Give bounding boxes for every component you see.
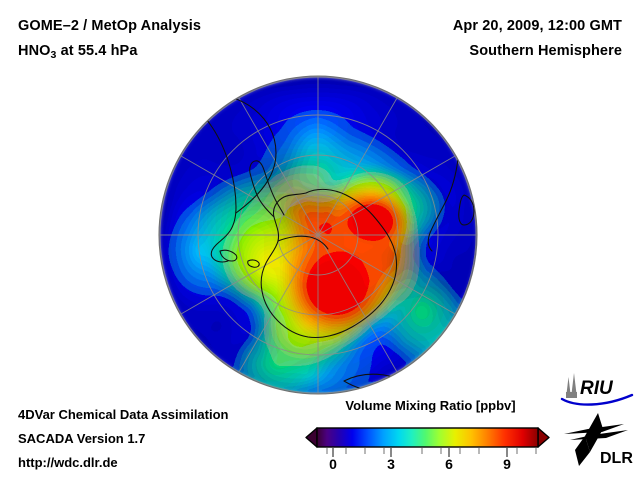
website-url[interactable]: http://wdc.dlr.de	[18, 451, 229, 475]
colorbar-min-arrow	[306, 428, 317, 447]
region-label: Southern Hemisphere	[322, 39, 622, 64]
colorbar-major-ticks	[333, 448, 507, 457]
colorbar-tick-label-0: 0	[329, 456, 337, 470]
colorbar-tick-label-3: 9	[503, 456, 511, 470]
colorbar-title: Volume Mixing Ratio [ppbv]	[311, 398, 550, 413]
riu-logo: RIU	[560, 372, 636, 406]
method-label: 4DVar Chemical Data Assimilation	[18, 403, 229, 427]
coastline-tasmania	[396, 392, 404, 395]
species-level-label: HNO3 at 55.4 hPa	[18, 39, 318, 65]
version-label: SACADA Version 1.7	[18, 427, 229, 451]
colorbar-gradient	[317, 428, 538, 447]
polar-map-globe	[158, 75, 478, 395]
colorbar-svg: 0 3 6 9	[305, 418, 550, 470]
globe-svg	[158, 75, 478, 395]
datetime-label: Apr 20, 2009, 12:00 GMT	[322, 14, 622, 39]
level-text: at 55.4 hPa	[56, 43, 137, 59]
footer-left-block: 4DVar Chemical Data Assimilation SACADA …	[18, 403, 229, 475]
header-left-block: GOME–2 / MetOp Analysis HNO3 at 55.4 hPa	[18, 14, 318, 65]
analysis-title: GOME–2 / MetOp Analysis	[18, 14, 318, 39]
colorbar-block: Volume Mixing Ratio [ppbv]	[305, 398, 550, 470]
species-subscript: 3	[51, 49, 57, 61]
colorbar-minor-ticks	[327, 448, 536, 454]
riu-wordmark: RIU	[580, 378, 614, 399]
coastline-new-zealand	[442, 375, 454, 391]
colorbar-tick-label-2: 6	[445, 456, 453, 470]
cathedral-spires-icon	[566, 373, 577, 398]
header-right-block: Apr 20, 2009, 12:00 GMT Southern Hemisph…	[322, 14, 622, 64]
coastline-new-zealand-south	[434, 367, 446, 379]
colorbar-max-arrow	[538, 428, 549, 447]
dlr-wordmark: DLR	[600, 450, 633, 467]
dlr-logo: DLR	[562, 412, 636, 468]
colorbar-tick-label-1: 3	[387, 456, 395, 470]
species-name: HNO	[18, 43, 51, 59]
